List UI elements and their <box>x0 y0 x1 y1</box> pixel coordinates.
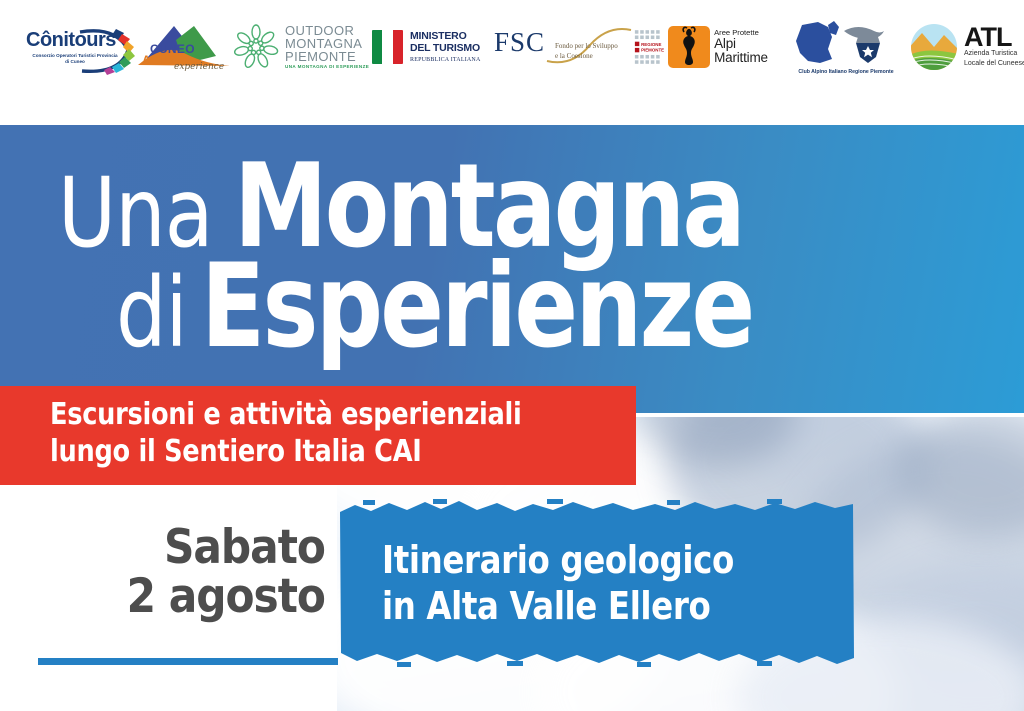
svg-text:REGIONE: REGIONE <box>641 42 661 47</box>
fsc-line2: e la Coesione <box>555 51 618 61</box>
title-word-una: Una <box>58 169 212 258</box>
event-poster: Cônitours Consorzio Operatori Turistici … <box>0 0 1024 711</box>
apam-wordmark: Aree Protette Alpi Marittime <box>714 29 784 66</box>
logo-atl: ATL Azienda Turistica Locale del Cuneese <box>908 22 1024 72</box>
atl-wordmark: ATL Azienda Turistica Locale del Cuneese <box>964 25 1024 69</box>
cuneo-alps-line2: ALPS <box>142 53 175 67</box>
conitours-subtitle: Consorzio Operatori Turistici Provincia … <box>32 53 118 65</box>
main-title: UnaMontagna diEsperienze <box>58 153 988 361</box>
cuneo-alps-script: experience <box>174 62 224 72</box>
date-line-2: 2 agosto <box>127 572 325 621</box>
fsc-acronym: FSC <box>494 27 545 58</box>
logo-cuneo-alps: CUNEO ALPS experience <box>136 20 232 74</box>
logo-ministero-del-turismo: MINISTERO DEL TURISMO REPUBBLICA ITALIAN… <box>372 24 492 70</box>
mdt-line2: DEL TURISMO <box>410 43 481 55</box>
conitours-wordmark: Cônitours <box>26 30 116 50</box>
atl-line1: Azienda Turistica <box>964 50 1024 59</box>
mdt-wordmark: MINISTERO DEL TURISMO REPUBBLICA ITALIAN… <box>410 31 481 63</box>
apam-line2: Alpi Marittime <box>714 37 784 65</box>
bootprint-flower-icon <box>232 23 280 71</box>
itinerary-line-2: in Alta Valle Ellero <box>382 583 734 629</box>
italian-flag-icon <box>372 30 403 64</box>
cai-caption: Club Alpino Italiano Regione Piemonte <box>784 69 908 75</box>
logo-fsc: FSC Fondo per lo Sviluppo e la Coesione <box>492 23 634 71</box>
atl-landscape-icon <box>908 23 960 71</box>
logo-club-alpino-italiano: Club Alpino Italiano Regione Piemonte <box>784 19 908 75</box>
title-band: UnaMontagna diEsperienze <box>0 125 1024 413</box>
itinerary-text: Itinerario geologico in Alta Valle Eller… <box>382 537 734 630</box>
fsc-line1: Fondo per lo Sviluppo <box>555 41 618 51</box>
logo-aree-protette-alpi-marittime: REGIONE PIEMONTE Aree Protette Alpi Mari… <box>634 23 784 71</box>
itinerary-line-1: Itinerario geologico <box>382 537 734 583</box>
omp-tagline: UNA MONTAGNA DI ESPERIENZE <box>285 65 369 70</box>
subtitle-line-1: Escursioni e attività esperienziali <box>50 397 521 434</box>
omp-wordmark: OUTDOOR MONTAGNA PIEMONTE UNA MONTAGNA D… <box>285 24 369 70</box>
title-line-2: diEsperienze <box>58 253 988 361</box>
atl-line2: Locale del Cuneese <box>964 60 1024 69</box>
atl-acronym: ATL <box>964 25 1024 49</box>
logo-conitours: Cônitours Consorzio Operatori Turistici … <box>26 20 136 74</box>
logo-outdoor-montagna-piemonte: OUTDOOR MONTAGNA PIEMONTE UNA MONTAGNA D… <box>232 18 372 76</box>
date-underline-rule <box>38 658 338 665</box>
subtitle-text: Escursioni e attività esperienziali lung… <box>50 397 521 470</box>
cai-piemonte-emblem-icon <box>784 19 908 67</box>
title-word-di: di <box>116 269 187 358</box>
subtitle-band: Escursioni e attività esperienziali lung… <box>0 386 636 485</box>
date-line-1: Sabato <box>127 523 325 572</box>
fsc-subtitle: Fondo per lo Sviluppo e la Coesione <box>555 41 618 61</box>
event-date: Sabato 2 agosto <box>127 523 325 622</box>
date-panel: Sabato 2 agosto <box>0 485 337 711</box>
title-word-esperienze: Esperienze <box>201 253 753 361</box>
alpi-marittime-ibex-icon <box>668 26 710 68</box>
mdt-line3: REPUBBLICA ITALIANA <box>410 57 481 63</box>
subtitle-line-2: lungo il Sentiero Italia CAI <box>50 434 521 471</box>
omp-line3: PIEMONTE <box>285 50 369 63</box>
regione-piemonte-dots-icon: REGIONE PIEMONTE <box>634 26 664 68</box>
sponsor-logo-bar: Cônitours Consorzio Operatori Turistici … <box>0 0 1024 112</box>
itinerary-brush-box: Itinerario geologico in Alta Valle Eller… <box>337 498 857 668</box>
svg-text:PIEMONTE: PIEMONTE <box>641 47 664 52</box>
